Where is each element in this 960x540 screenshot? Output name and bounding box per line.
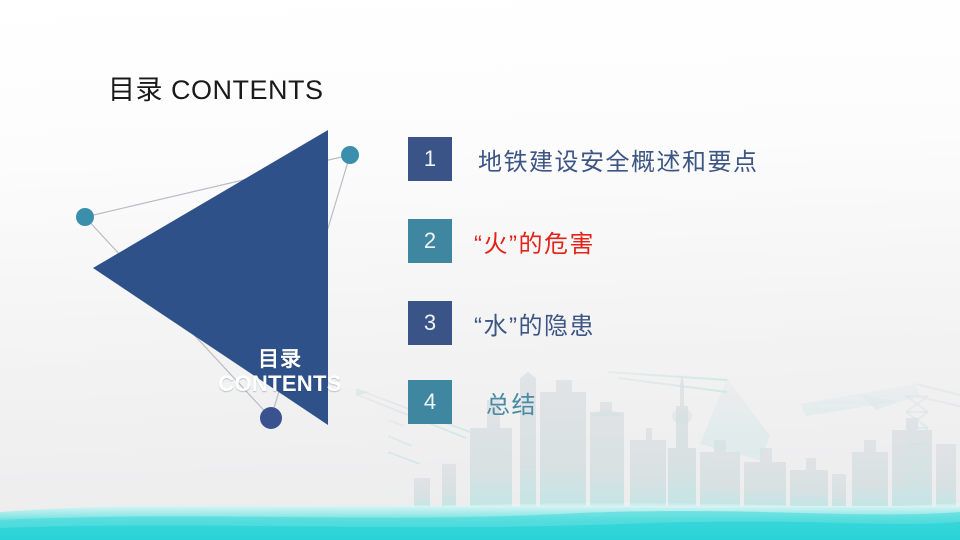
slide-canvas: 目录 CONTENTS 目录 CONTENTS 1 地铁建设安全概述和要点 bbox=[0, 0, 960, 540]
construction-crane-silhouette bbox=[608, 371, 770, 508]
contents-item-3[interactable]: 3 “水”的隐患 bbox=[408, 301, 595, 345]
contents-item-2[interactable]: 2 “火”的危害 bbox=[408, 219, 595, 263]
page-title: 目录 CONTENTS bbox=[108, 68, 324, 107]
water-gradient-band bbox=[0, 503, 960, 540]
contents-label-3[interactable]: “水”的隐患 bbox=[474, 306, 595, 341]
construction-crane-silhouette bbox=[800, 384, 960, 506]
graphic-label-en: CONTENTS bbox=[202, 372, 358, 397]
contents-label-2[interactable]: “火”的危害 bbox=[474, 224, 595, 259]
triangle-contents-graphic: 目录 CONTENTS bbox=[50, 120, 380, 450]
contents-item-4[interactable]: 4 总结 bbox=[408, 380, 537, 424]
contents-label-1[interactable]: 地铁建设安全概述和要点 bbox=[478, 142, 759, 177]
dot-left bbox=[76, 208, 94, 226]
contents-badge-1[interactable]: 1 bbox=[408, 137, 452, 181]
graphic-label-zh: 目录 bbox=[202, 348, 358, 372]
dot-top-right bbox=[341, 146, 359, 164]
graphic-svg bbox=[50, 120, 380, 450]
graphic-label: 目录 CONTENTS bbox=[202, 348, 358, 396]
contents-label-4[interactable]: 总结 bbox=[486, 385, 537, 420]
contents-badge-3[interactable]: 3 bbox=[408, 301, 452, 345]
contents-item-1[interactable]: 1 地铁建设安全概述和要点 bbox=[408, 137, 759, 181]
dot-bottom bbox=[260, 407, 282, 429]
contents-badge-4[interactable]: 4 bbox=[408, 380, 452, 424]
contents-badge-2[interactable]: 2 bbox=[408, 219, 452, 263]
